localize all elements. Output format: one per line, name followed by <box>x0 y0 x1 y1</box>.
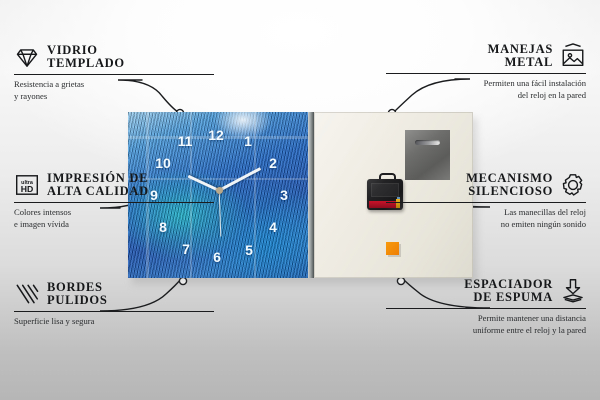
callout-header: ESPACIADOR DE ESPUMA <box>386 278 586 304</box>
foam-spacer <box>386 242 399 255</box>
gear-icon <box>560 172 586 198</box>
callout-rule <box>386 308 586 309</box>
clock-center-cap <box>216 187 223 194</box>
callout-header: VIDRIO TEMPLADO <box>14 44 214 70</box>
clock-numeral: 5 <box>241 243 257 257</box>
clock-numeral: 1 <box>240 134 256 148</box>
callout-rule <box>386 73 586 74</box>
clock-numeral: 11 <box>177 134 193 148</box>
callout-title: ESPACIADOR DE ESPUMA <box>464 278 553 304</box>
callout-espaciador-de-espuma: ESPACIADOR DE ESPUMA Permite mantener un… <box>386 278 586 336</box>
clock-second-hand <box>218 191 221 237</box>
callout-subtitle: Permiten una fácil instalación del reloj… <box>386 78 586 101</box>
clock-numeral: 4 <box>265 220 281 234</box>
callout-header: MANEJAS METAL <box>386 43 586 69</box>
hanger-slot <box>415 140 440 145</box>
callout-manejas-metal: MANEJAS METAL Permiten una fácil instala… <box>386 43 586 101</box>
callout-mecanismo-silencioso: MECANISMO SILENCIOSO Las manecillas del … <box>386 172 586 230</box>
callout-title: BORDES PULIDOS <box>47 281 107 307</box>
callout-title: VIDRIO TEMPLADO <box>47 44 125 70</box>
callout-subtitle: Colores intensos e imagen vívida <box>14 207 214 230</box>
callout-subtitle: Permite mantener una distancia uniforme … <box>386 313 586 336</box>
arrow-down-onto-layers-icon <box>560 278 586 304</box>
clock-numeral: 6 <box>209 250 225 264</box>
callout-title: MECANISMO SILENCIOSO <box>466 172 553 198</box>
callout-subtitle: Resistencia a grietas y rayones <box>14 79 214 102</box>
clock-numeral: 7 <box>178 242 194 256</box>
callout-subtitle: Superficie lisa y segura <box>14 316 214 328</box>
callout-title: IMPRESIÓN DE ALTA CALIDAD <box>47 172 149 198</box>
callout-header: ultra HD IMPRESIÓN DE ALTA CALIDAD <box>14 172 214 198</box>
callout-impresion-alta-calidad: ultra HD IMPRESIÓN DE ALTA CALIDAD Color… <box>14 172 214 230</box>
callout-rule <box>386 202 586 203</box>
callout-bordes-pulidos: BORDES PULIDOS Superficie lisa y segura <box>14 281 214 328</box>
infographic-canvas: 12 1 2 3 4 5 6 7 8 9 10 11 <box>0 0 600 400</box>
callout-vidrio-templado: VIDRIO TEMPLADO Resistencia a grietas y … <box>14 44 214 102</box>
callout-rule <box>14 311 214 312</box>
callout-header: BORDES PULIDOS <box>14 281 214 307</box>
callout-rule <box>14 202 214 203</box>
ultra-hd-badge-icon: ultra HD <box>14 172 40 198</box>
hanging-picture-frame-icon <box>560 43 586 69</box>
callout-subtitle: Las manecillas del reloj no emiten ningú… <box>386 207 586 230</box>
callout-title: MANEJAS METAL <box>488 43 553 69</box>
clock-numeral: 2 <box>265 156 281 170</box>
clock-numeral: 3 <box>276 188 292 202</box>
callout-rule <box>14 74 214 75</box>
polished-edges-lines-icon <box>14 281 40 307</box>
clock-numeral: 10 <box>155 156 171 170</box>
svg-text:HD: HD <box>21 184 34 194</box>
callout-header: MECANISMO SILENCIOSO <box>386 172 586 198</box>
diamond-gem-icon <box>14 44 40 70</box>
clock-numeral: 12 <box>208 128 224 142</box>
